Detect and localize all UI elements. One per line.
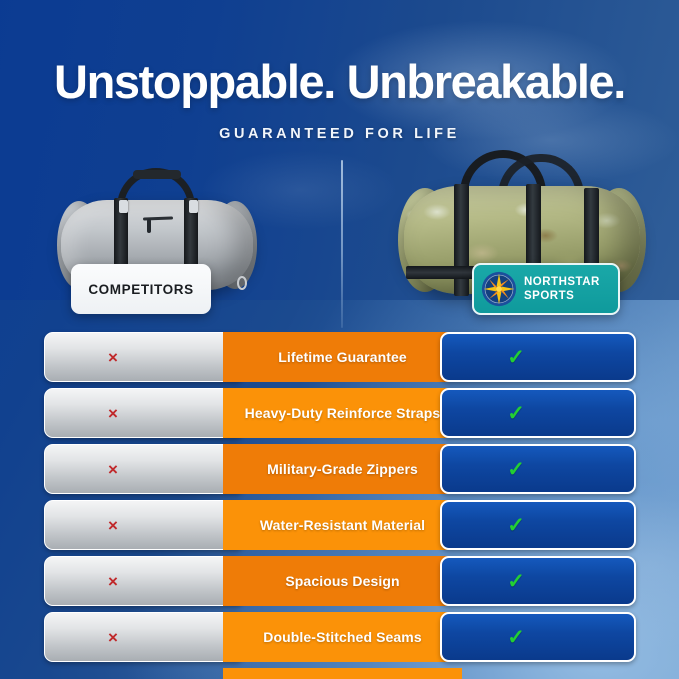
feature-cell: Heavy-Duty Reinforce Straps [223, 388, 462, 438]
competitor-cell: × [44, 388, 244, 438]
brand-cell: ✓ [440, 332, 636, 382]
competitor-cell: × [44, 444, 244, 494]
bag-buckle [189, 200, 198, 213]
bag-handle-grip [133, 170, 181, 179]
feature-cell: Water-Resistant Material [223, 500, 462, 550]
competitor-cell: × [44, 612, 244, 662]
brand-cell: ✓ [440, 500, 636, 550]
bag-strap [454, 184, 469, 296]
cross-icon: × [108, 629, 118, 646]
brand-cell: ✓ [440, 444, 636, 494]
table-row: × Heavy-Duty Reinforce Straps ✓ [0, 388, 679, 438]
cross-icon: × [108, 461, 118, 478]
table-row: × Spacious Design ✓ [0, 556, 679, 606]
competitor-cell: × [44, 556, 244, 606]
feature-label: Lifetime Guarantee [278, 349, 407, 365]
brand-cell: ✓ [440, 388, 636, 438]
competitor-cell: × [44, 500, 244, 550]
check-icon: ✓ [507, 459, 525, 480]
check-icon: ✓ [507, 347, 525, 368]
table-row: × Water-Resistant Material ✓ [0, 500, 679, 550]
cross-icon: × [108, 405, 118, 422]
cross-icon: × [108, 349, 118, 366]
cross-icon: × [108, 573, 118, 590]
feature-label: Military-Grade Zippers [267, 461, 418, 477]
infographic-stage: Unstoppable. Unbreakable. GUARANTEED FOR… [0, 0, 679, 679]
orange-column-tail [223, 668, 462, 679]
check-icon: ✓ [507, 515, 525, 536]
competitors-label-text: COMPETITORS [88, 282, 193, 297]
feature-cell: Spacious Design [223, 556, 462, 606]
check-icon: ✓ [507, 571, 525, 592]
brand-name-line2: SPORTS [524, 290, 574, 302]
cross-icon: × [108, 517, 118, 534]
table-row: × Military-Grade Zippers ✓ [0, 444, 679, 494]
check-icon: ✓ [507, 627, 525, 648]
page-subtitle: GUARANTEED FOR LIFE [0, 126, 679, 142]
table-row: × Double-Stitched Seams ✓ [0, 612, 679, 662]
feature-label: Heavy-Duty Reinforce Straps [245, 405, 441, 421]
check-icon: ✓ [507, 403, 525, 424]
brand-name: NORTHSTAR SPORTS [524, 275, 600, 303]
feature-cell: Lifetime Guarantee [223, 332, 462, 382]
brand-name-line1: NORTHSTAR [524, 276, 600, 288]
brand-badge: NORTHSTAR SPORTS [472, 263, 620, 315]
table-row: × Lifetime Guarantee ✓ [0, 332, 679, 382]
feature-cell: Military-Grade Zippers [223, 444, 462, 494]
competitor-cell: × [44, 332, 244, 382]
feature-label: Spacious Design [285, 573, 399, 589]
comparison-table: × Lifetime Guarantee ✓ × Heavy-Duty Rein… [0, 332, 679, 679]
bag-clip [237, 276, 247, 290]
orange-column-footer [0, 668, 679, 679]
competitors-label: COMPETITORS [71, 264, 211, 314]
feature-label: Double-Stitched Seams [263, 629, 421, 645]
bag-zipper-pull [147, 219, 151, 233]
page-title: Unstoppable. Unbreakable. [0, 57, 679, 107]
vertical-divider [341, 160, 343, 328]
brand-cell: ✓ [440, 612, 636, 662]
feature-label: Water-Resistant Material [260, 517, 425, 533]
brand-cell: ✓ [440, 556, 636, 606]
feature-cell: Double-Stitched Seams [223, 612, 462, 662]
compass-star-icon [481, 271, 517, 307]
bag-buckle [119, 200, 128, 213]
